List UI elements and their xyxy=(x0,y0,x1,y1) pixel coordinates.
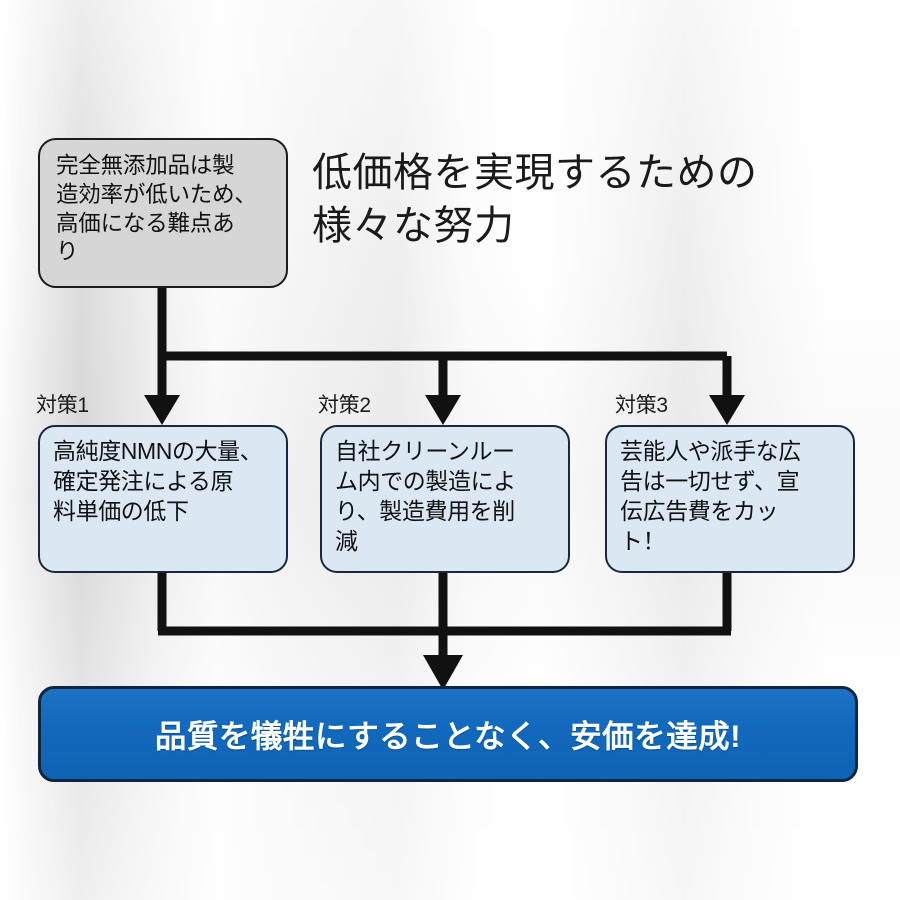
arrowhead-measure-3 xyxy=(709,395,745,425)
problem-box: 完全無添加品は製 造効率が低いため、 高価になる難点あ り xyxy=(38,138,288,288)
measure-box-1: 高純度NMNの大量、 確定発注による原 料単価の低下 xyxy=(38,425,288,573)
measure-box-3: 芸能人や派手な広 告は一切せず、宣 伝広告費をカッ ト！ xyxy=(605,425,855,573)
measure-box-2-text: 自社クリーンルー ム内での製造によ り、製造費用を削 減 xyxy=(335,437,516,557)
measure-box-2: 自社クリーンルー ム内での製造によ り、製造費用を削 減 xyxy=(320,425,570,573)
measure-box-1-text: 高純度NMNの大量、 確定発注による原 料単価の低下 xyxy=(53,437,262,527)
measure-label-1: 対策1 xyxy=(36,389,89,419)
measure-box-3-text: 芸能人や派手な広 告は一切せず、宣 伝広告費をカッ ト！ xyxy=(620,437,801,557)
conclusion-banner-text: 品質を犠牲にすることなく、安価を達成! xyxy=(155,711,741,757)
measure-label-2: 対策2 xyxy=(318,389,371,419)
arrowhead-conclusion xyxy=(423,655,463,690)
diagram-canvas: 低価格を実現するための 様々な努力 完全無添加品は製 造効率が低いため、 高価に… xyxy=(0,0,900,900)
arrowhead-measure-2 xyxy=(425,395,461,425)
problem-box-text: 完全無添加品は製 造効率が低いため、 高価になる難点あ り xyxy=(56,152,257,267)
conclusion-banner: 品質を犠牲にすることなく、安価を達成! xyxy=(38,686,858,782)
page-title: 低価格を実現するための 様々な努力 xyxy=(312,147,872,253)
arrowhead-measure-1 xyxy=(144,395,180,425)
measure-label-3: 対策3 xyxy=(615,389,668,419)
